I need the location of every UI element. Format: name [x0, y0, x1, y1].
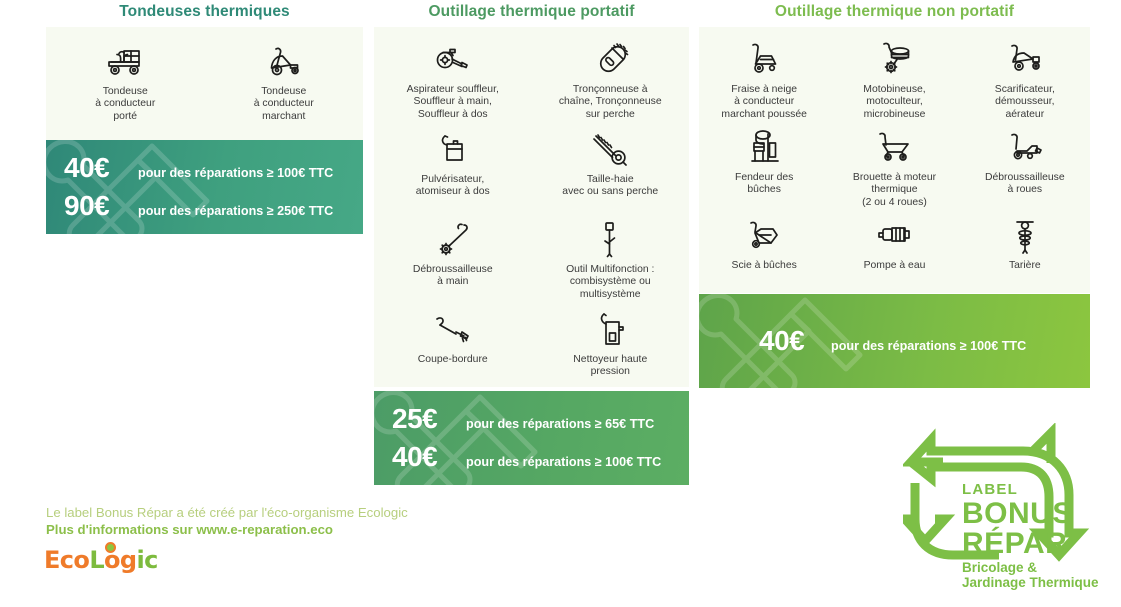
column-title-outillage-thermique-portatif: Outillage thermique portatif — [374, 3, 689, 21]
item-caption: Outil Multifonction : combisystème ou mu… — [566, 264, 654, 301]
price-row: 25€ pour des réparations ≥ 65€ TTC — [392, 403, 689, 435]
item-caption: Motobineuse, motoculteur, microbineuse — [863, 84, 925, 121]
bonus-repar-label: LABEL — [962, 481, 1018, 498]
column-title-tondeuses-thermiques: Tondeuses thermiques — [46, 3, 363, 21]
ecologic-logo-part4: ic — [136, 546, 157, 574]
item-caption: Débroussailleuse à roues — [985, 172, 1065, 197]
item-hedge-trimmer[interactable]: Taille-haie avec ou sans perche — [532, 127, 690, 217]
price-condition: pour des réparations ≥ 65€ TTC — [466, 417, 654, 431]
price-amount: 40€ — [64, 152, 138, 184]
multi-tool-icon — [597, 217, 623, 261]
column-title-outillage-thermique-non-portatif: Outillage thermique non portatif — [699, 3, 1090, 21]
item-water-pump[interactable]: Pompe à eau — [829, 213, 959, 301]
price-condition: pour des réparations ≥ 100€ TTC — [138, 166, 333, 180]
chainsaw-icon — [590, 37, 630, 81]
item-caption: Débroussailleuse à main — [413, 264, 493, 289]
items-card-outillage-thermique-portatif: Aspirateur souffleur, Souffleur à main, … — [374, 27, 689, 387]
leaf-blower-icon — [433, 37, 473, 81]
item-edge-trimmer[interactable]: Coupe-bordure — [374, 307, 532, 397]
price-rows: 25€ pour des réparations ≥ 65€ TTC 40€ p… — [374, 397, 689, 479]
items-card-outillage-thermique-non-portatif: Fraise à neige à conducteur marchant pou… — [699, 27, 1090, 293]
item-caption: Brouette à moteur thermique (2 ou 4 roue… — [853, 172, 936, 209]
ride-on-mower-icon — [104, 39, 146, 83]
item-powered-wheelbarrow[interactable]: Brouette à moteur thermique (2 ou 4 roue… — [829, 125, 959, 213]
item-log-saw[interactable]: Scie à bûches — [699, 213, 829, 301]
edge-trimmer-icon — [432, 307, 474, 351]
item-caption: Nettoyeur haute pression — [573, 354, 647, 379]
ecologic-logo[interactable]: EcoLogic — [44, 546, 158, 574]
auger-icon — [1011, 213, 1039, 257]
item-ride-on-mower[interactable]: Tondeuse à conducteur porté — [46, 39, 205, 140]
price-amount: 90€ — [64, 190, 138, 222]
price-rows: 40€ pour des réparations ≥ 100€ TTC 90€ … — [46, 146, 363, 228]
item-scarifier[interactable]: Scarificateur, démousseur, aérateur — [960, 37, 1090, 125]
item-tiller[interactable]: Motobineuse, motoculteur, microbineuse — [829, 37, 959, 125]
bonus-repar-bonus: BONUS — [962, 497, 1073, 531]
item-caption: Tarière — [1009, 260, 1041, 272]
tiller-icon — [875, 37, 913, 81]
price-amount: 40€ — [392, 441, 466, 473]
price-banner-outillage-thermique-portatif: 25€ pour des réparations ≥ 65€ TTC 40€ p… — [374, 391, 689, 485]
ecologic-logo-part2: L — [89, 546, 104, 574]
item-caption: Aspirateur souffleur, Souffleur à main, … — [407, 84, 499, 121]
ecologic-logo-dot-icon — [105, 542, 116, 553]
item-caption: Scie à bûches — [732, 260, 797, 272]
item-caption: Tondeuse à conducteur porté — [95, 86, 155, 123]
handheld-brushcutter-icon — [435, 217, 471, 261]
price-banner-outillage-thermique-non-portatif: 40€ pour des réparations ≥ 100€ TTC — [699, 294, 1090, 388]
price-banner-tondeuses-thermiques: 40€ pour des réparations ≥ 100€ TTC 90€ … — [46, 140, 363, 234]
price-rows: 40€ pour des réparations ≥ 100€ TTC — [699, 319, 1090, 363]
footer-website-line[interactable]: Plus d'informations sur www.e-reparation… — [46, 522, 333, 537]
items-card-tondeuses-thermiques: Tondeuse à conducteur porté Tondeuse à c… — [46, 27, 363, 140]
item-caption: Taille-haie avec ou sans perche — [562, 174, 658, 199]
footer-credit-line: Le label Bonus Répar a été créé par l'éc… — [46, 505, 408, 520]
item-caption: Fraise à neige à conducteur marchant pou… — [721, 84, 806, 121]
item-walk-behind-mower[interactable]: Tondeuse à conducteur marchant — [205, 39, 364, 140]
price-row: 40€ pour des réparations ≥ 100€ TTC — [759, 325, 1090, 357]
price-condition: pour des réparations ≥ 250€ TTC — [138, 204, 333, 218]
item-caption: Tronçonneuse à chaîne, Tronçonneuse sur … — [559, 84, 662, 121]
item-auger[interactable]: Tarière — [960, 213, 1090, 301]
bonus-repar-sub1: Bricolage & — [962, 560, 1037, 575]
item-pressure-washer[interactable]: Nettoyeur haute pression — [532, 307, 690, 397]
price-row: 40€ pour des réparations ≥ 100€ TTC — [64, 152, 363, 184]
item-caption: Coupe-bordure — [418, 354, 488, 366]
powered-wheelbarrow-icon — [874, 125, 914, 169]
item-snow-blower[interactable]: Fraise à neige à conducteur marchant pou… — [699, 37, 829, 125]
item-handheld-brushcutter[interactable]: Débroussailleuse à main — [374, 217, 532, 307]
sprayer-backpack-icon — [436, 127, 470, 171]
item-leaf-blower[interactable]: Aspirateur souffleur, Souffleur à main, … — [374, 37, 532, 127]
price-amount: 25€ — [392, 403, 466, 435]
ecologic-logo-part1: Eco — [44, 546, 89, 574]
item-chainsaw[interactable]: Tronçonneuse à chaîne, Tronçonneuse sur … — [532, 37, 690, 127]
price-row: 40€ pour des réparations ≥ 100€ TTC — [392, 441, 689, 473]
infographic-page: Tondeuses thermiques Tondeuse à — [0, 0, 1121, 607]
scarifier-icon — [1005, 37, 1045, 81]
price-condition: pour des réparations ≥ 100€ TTC — [831, 339, 1026, 353]
item-caption: Tondeuse à conducteur marchant — [254, 86, 314, 123]
log-splitter-icon — [747, 125, 781, 169]
bonus-repar-sub2: Jardinage Thermique — [962, 575, 1099, 590]
wheeled-brushcutter-icon — [1005, 125, 1045, 169]
price-amount: 40€ — [759, 325, 831, 357]
hedge-trimmer-icon — [590, 127, 630, 171]
walk-behind-mower-icon — [263, 39, 305, 83]
snow-blower-icon — [745, 37, 783, 81]
item-multi-tool[interactable]: Outil Multifonction : combisystème ou mu… — [532, 217, 690, 307]
log-saw-icon — [745, 213, 783, 257]
price-condition: pour des réparations ≥ 100€ TTC — [466, 455, 661, 469]
item-wheeled-brushcutter[interactable]: Débroussailleuse à roues — [960, 125, 1090, 213]
item-log-splitter[interactable]: Fendeur des bûches — [699, 125, 829, 213]
bonus-repar-logo[interactable]: LABEL BONUS RÉPAR Bricolage & Jardinage … — [903, 423, 1103, 588]
item-caption: Pompe à eau — [864, 260, 926, 272]
item-sprayer-backpack[interactable]: Pulvérisateur, atomiseur à dos — [374, 127, 532, 217]
item-caption: Fendeur des bûches — [735, 172, 793, 197]
bonus-repar-repar: RÉPAR — [962, 527, 1067, 561]
price-row: 90€ pour des réparations ≥ 250€ TTC — [64, 190, 363, 222]
water-pump-icon — [874, 213, 914, 257]
item-caption: Pulvérisateur, atomiseur à dos — [416, 174, 490, 199]
item-caption: Scarificateur, démousseur, aérateur — [995, 84, 1055, 121]
pressure-washer-icon — [594, 307, 626, 351]
